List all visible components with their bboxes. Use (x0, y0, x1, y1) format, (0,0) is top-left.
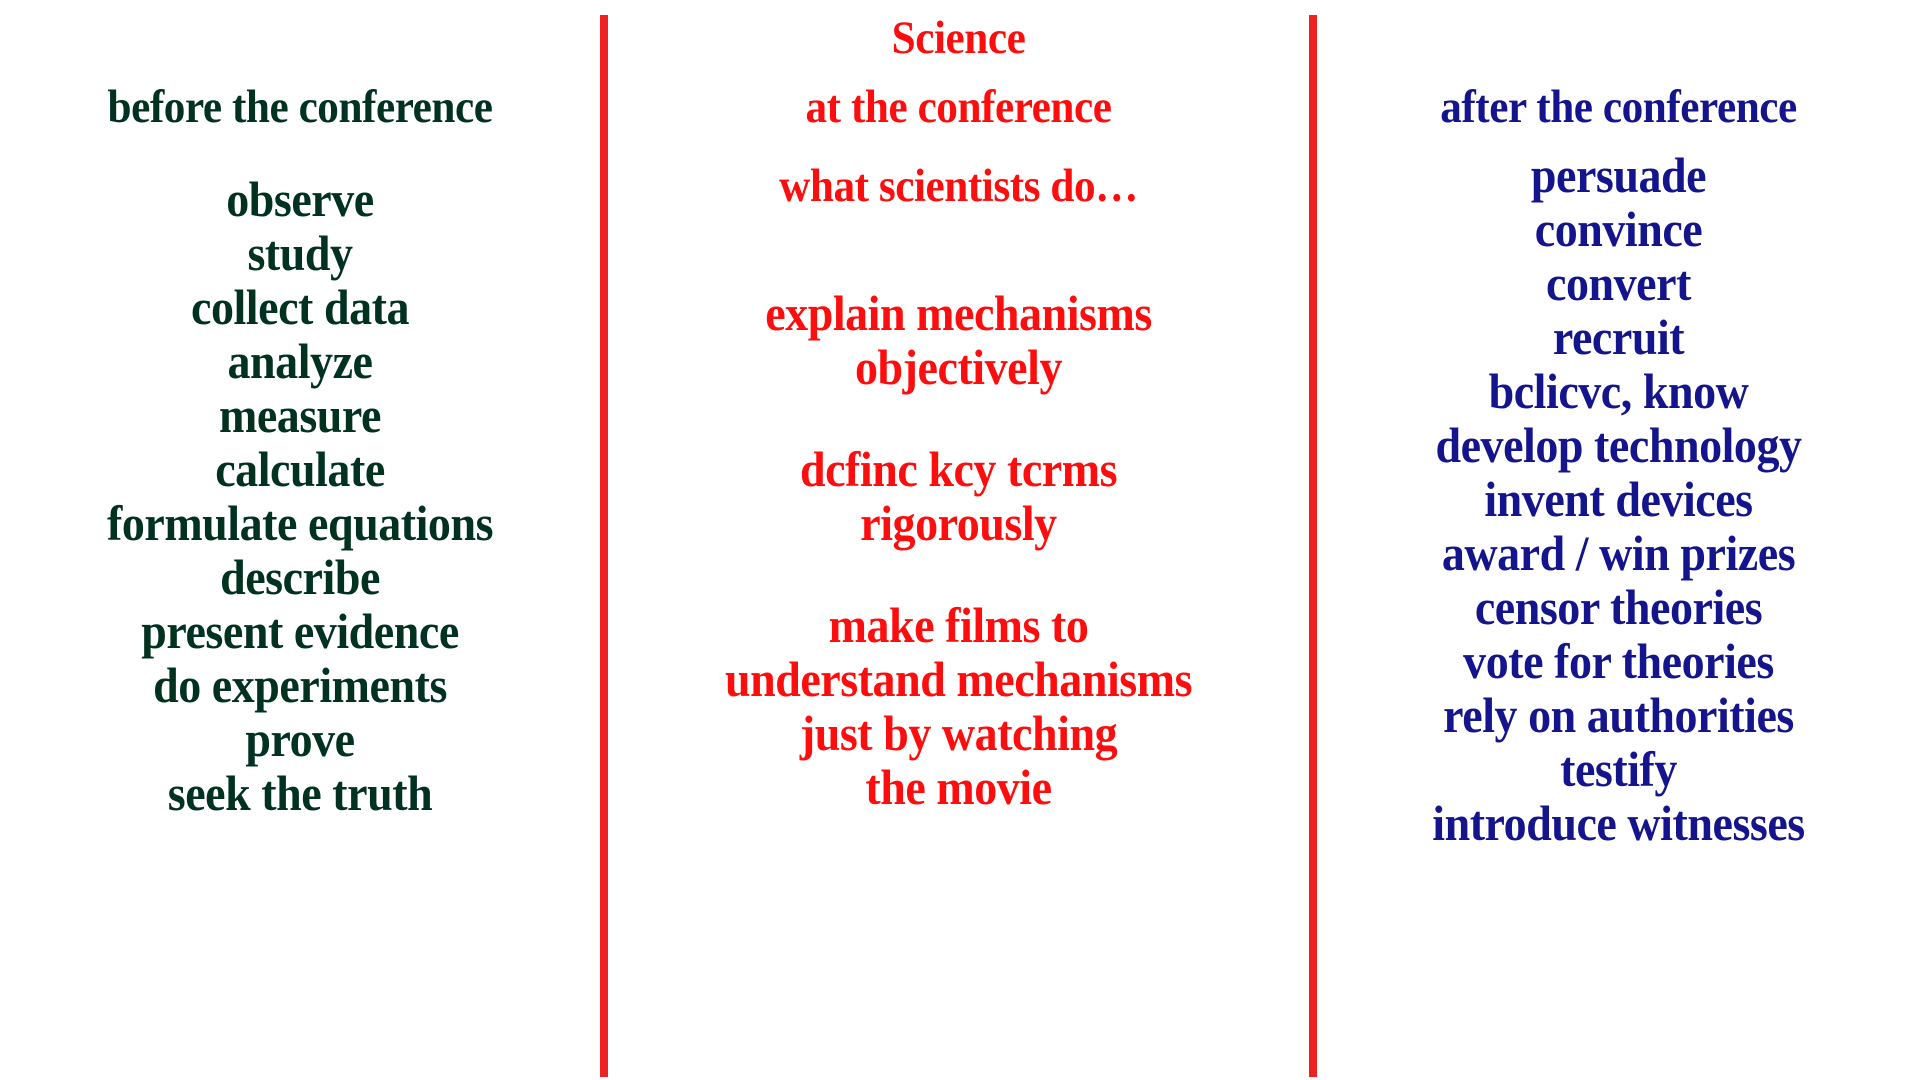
list-item: recruit (1341, 312, 1896, 362)
list-item: convince (1341, 204, 1896, 254)
statement-block: dcfinc kcy tcrms rigorously (608, 444, 1309, 548)
list-item: describe (24, 552, 576, 602)
list-item: observe (24, 174, 576, 224)
at-conference-subheading: what scientists do… (636, 163, 1281, 210)
list-item: collect data (24, 282, 576, 332)
statement-block: make films to understand mechanisms just… (608, 600, 1309, 812)
column-divider-right (1309, 15, 1317, 1077)
list-item: explain mechanisms (636, 288, 1281, 338)
list-item: bclicvc, know (1341, 366, 1896, 416)
list-item: make films to (636, 600, 1281, 650)
list-item: the movie (636, 762, 1281, 812)
after-conference-list: persuade convince convert recruit bclicv… (1317, 150, 1920, 852)
list-item: calculate (24, 444, 576, 494)
slide-canvas: before the conference observe study coll… (0, 0, 1920, 1080)
list-item: vote for theories (1341, 636, 1896, 686)
list-item: prove (24, 714, 576, 764)
list-item: study (24, 228, 576, 278)
list-item: invent devices (1341, 474, 1896, 524)
before-conference-list: observe study collect data analyze measu… (0, 174, 600, 822)
after-conference-heading: after the conference (1341, 84, 1896, 131)
list-item: introduce witnesses (1341, 798, 1896, 848)
list-item: develop technology (1341, 420, 1896, 470)
at-conference-blocks: explain mechanisms objectively dcfinc kc… (608, 288, 1309, 816)
at-conference-heading: at the conference (636, 84, 1281, 131)
list-item: formulate equations (24, 498, 576, 548)
column-after-conference: after the conference persuade convince c… (1317, 0, 1920, 1080)
list-item: testify (1341, 744, 1896, 794)
list-item: just by watching (636, 708, 1281, 758)
list-item: analyze (24, 336, 576, 386)
list-item: present evidence (24, 606, 576, 656)
list-item: rely on authorities (1341, 690, 1896, 740)
column-before-conference: before the conference observe study coll… (0, 0, 600, 1080)
list-item: award / win prizes (1341, 528, 1896, 578)
list-item: do experiments (24, 660, 576, 710)
list-item: convert (1341, 258, 1896, 308)
list-item: rigorously (636, 498, 1281, 548)
slide-title: Science (636, 15, 1281, 62)
list-item: measure (24, 390, 576, 440)
before-conference-heading: before the conference (24, 84, 576, 131)
column-at-conference: Science at the conference what scientist… (608, 0, 1309, 1080)
list-item: seek the truth (24, 768, 576, 818)
list-item: persuade (1341, 150, 1896, 200)
list-item: objectively (636, 342, 1281, 392)
list-item: dcfinc kcy tcrms (636, 444, 1281, 494)
list-item: understand mechanisms (636, 654, 1281, 704)
list-item: censor theories (1341, 582, 1896, 632)
column-divider-left (600, 15, 608, 1077)
statement-block: explain mechanisms objectively (608, 288, 1309, 392)
